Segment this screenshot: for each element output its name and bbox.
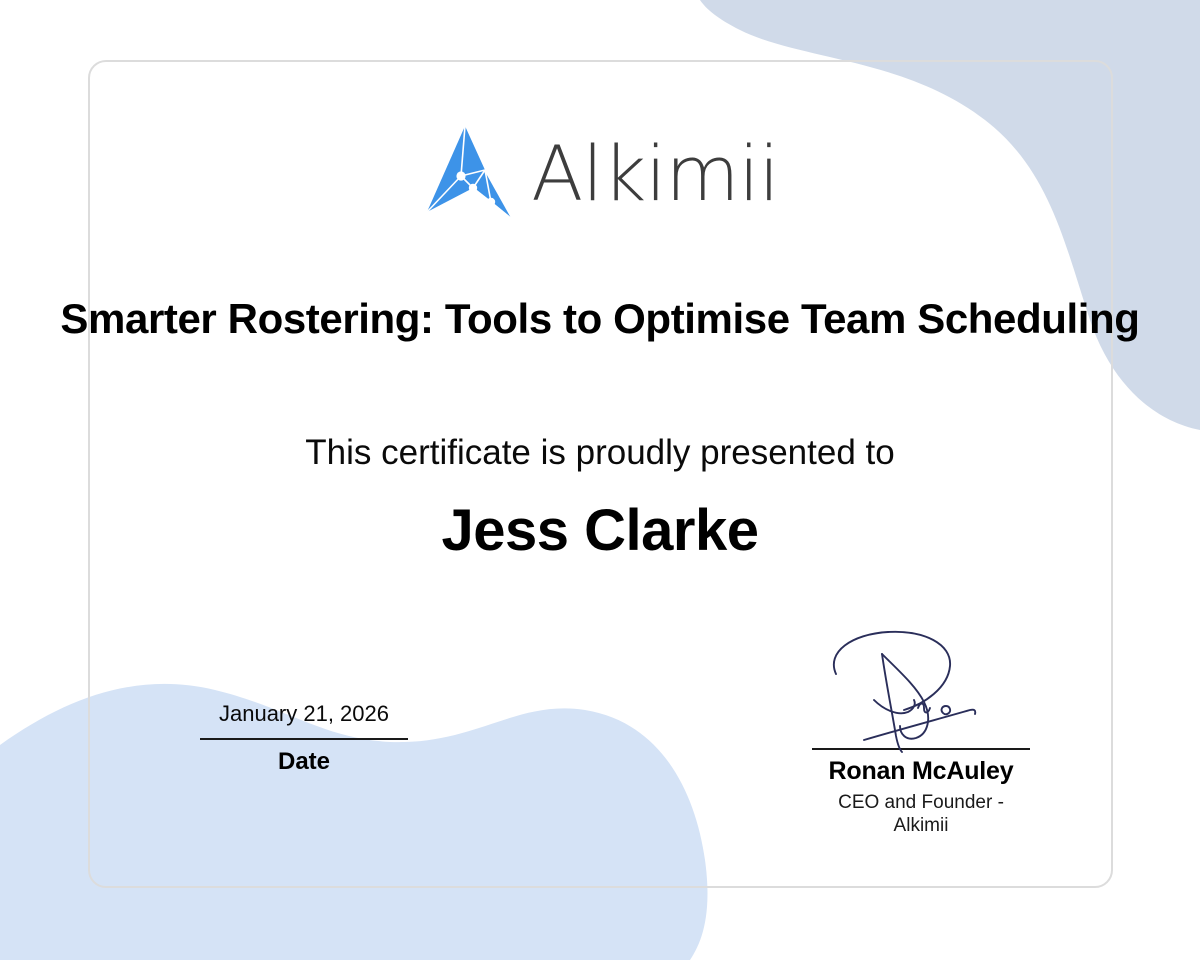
brand-logo-lockup: Alkimii — [0, 118, 1200, 230]
handwritten-signature-icon — [812, 626, 1030, 748]
date-label: Date — [200, 740, 408, 777]
course-title: Smarter Rostering: Tools to Optimise Tea… — [0, 294, 1200, 344]
recipient-name: Jess Clarke — [0, 496, 1200, 566]
signature-block: Ronan McAuley CEO and Founder - Alkimii — [812, 626, 1030, 838]
certificate-page: Alkimii Smarter Rostering: Tools to Opti… — [0, 0, 1200, 960]
date-block: January 21, 2026 Date — [200, 700, 408, 776]
alkimii-triangle-logo-icon — [421, 124, 517, 224]
date-value: January 21, 2026 — [200, 700, 408, 738]
presented-to-line: This certificate is proudly presented to — [0, 432, 1200, 474]
signatory-role: CEO and Founder - Alkimii — [812, 786, 1030, 838]
signatory-name: Ronan McAuley — [812, 750, 1030, 786]
brand-wordmark: Alkimii — [531, 136, 779, 212]
